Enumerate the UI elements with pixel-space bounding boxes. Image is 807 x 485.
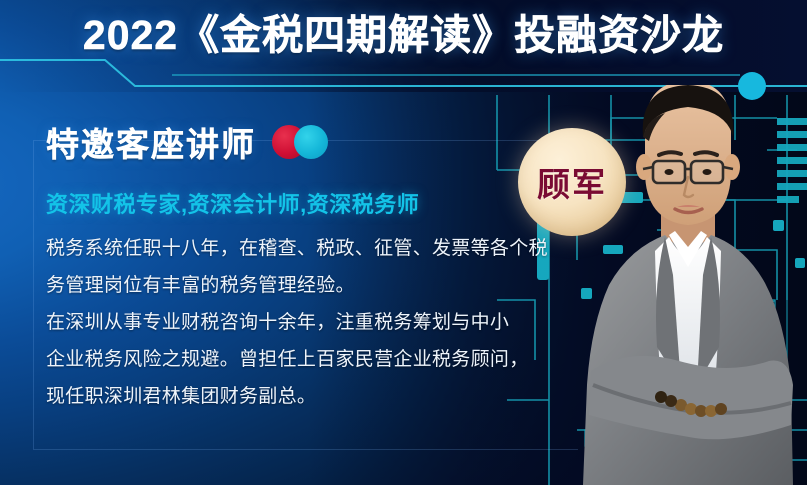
section-heading: 特邀客座讲师 bbox=[46, 118, 256, 166]
section-heading-row: 特邀客座讲师 bbox=[46, 118, 342, 166]
speaker-bio: 税务系统任职十八年，在稽查、税政、征管、发票等各个税 务管理岗位有丰富的税务管理… bbox=[46, 230, 571, 415]
page-title: 2022《金税四期解读》投融资沙龙 bbox=[0, 10, 807, 62]
speaker-portrait bbox=[569, 85, 807, 485]
bio-line: 现任职深圳君林集团财务副总。 bbox=[46, 378, 571, 415]
cyan-circle-accent bbox=[294, 125, 328, 159]
bio-line: 务管理岗位有丰富的税务管理经验。 bbox=[46, 267, 571, 304]
speaker-credentials: 资深财税专家,资深会计师,资深税务师 bbox=[46, 187, 419, 219]
bio-line: 在深圳从事专业财税咨询十余年，注重税务筹划与中小 bbox=[46, 304, 571, 341]
bio-line: 企业税务风险之规避。曾担任上百家民营企业税务顾问， bbox=[46, 341, 571, 378]
seminar-banner: 2022《金税四期解读》投融资沙龙 特邀客座讲师 资深财税专家,资深会计师,资深… bbox=[0, 0, 807, 485]
circle-accents bbox=[272, 123, 342, 161]
bio-line: 税务系统任职十八年，在稽查、税政、征管、发票等各个税 bbox=[46, 230, 571, 267]
